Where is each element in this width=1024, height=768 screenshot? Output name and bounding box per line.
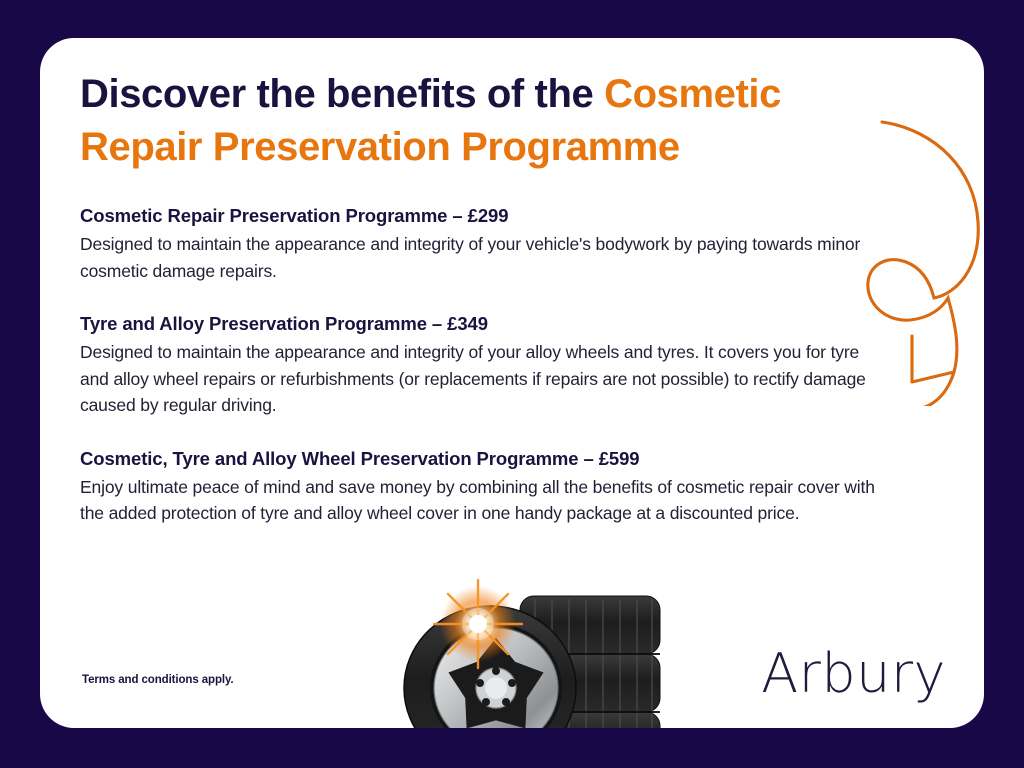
page-title: Discover the benefits of the Cosmetic Re…	[80, 68, 840, 174]
content-card: Discover the benefits of the Cosmetic Re…	[40, 38, 984, 728]
programme-heading: Cosmetic, Tyre and Alloy Wheel Preservat…	[80, 446, 885, 471]
programme-item: Tyre and Alloy Preservation Programme – …	[80, 311, 885, 419]
headline-lead-text: Discover the benefits of the	[80, 72, 604, 116]
programme-heading: Cosmetic Repair Preservation Programme –…	[80, 203, 885, 228]
stacked-tyres-image	[372, 556, 682, 728]
poster-canvas: Discover the benefits of the Cosmetic Re…	[0, 0, 1024, 768]
arbury-logo: Arbury	[761, 644, 946, 704]
headline-accent-cosmetic: Cosmetic	[604, 72, 781, 116]
programme-item: Cosmetic Repair Preservation Programme –…	[80, 203, 885, 284]
programme-list: Cosmetic Repair Preservation Programme –…	[80, 203, 885, 527]
headline-accent-programme: Repair Preservation Programme	[80, 125, 680, 169]
programme-heading: Tyre and Alloy Preservation Programme – …	[80, 311, 885, 336]
programme-description: Enjoy ultimate peace of mind and save mo…	[80, 474, 885, 527]
programme-item: Cosmetic, Tyre and Alloy Wheel Preservat…	[80, 446, 885, 527]
programme-description: Designed to maintain the appearance and …	[80, 231, 885, 284]
sparkle-icon	[434, 580, 522, 668]
terms-and-conditions-text: Terms and conditions apply.	[82, 674, 234, 686]
programme-description: Designed to maintain the appearance and …	[80, 339, 885, 419]
